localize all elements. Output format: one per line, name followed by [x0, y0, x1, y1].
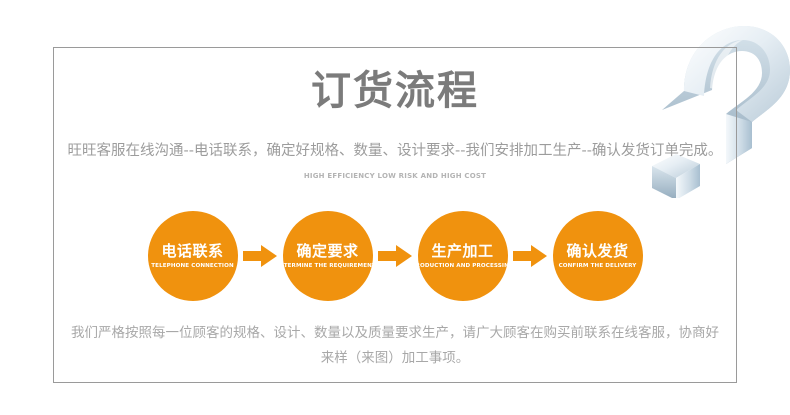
footnote-line-1: 我们严格按照每一位顾客的规格、设计、数量以及质量要求生产，请广大顾客在购买前联系…: [71, 325, 719, 366]
step-label-cn: 电话联系: [161, 242, 223, 260]
step-label-en: CONFIRM THE DELIVERY: [559, 263, 637, 269]
step-label-en: DETERMINE THE REQUIREMENTS: [275, 263, 380, 269]
step-label-cn: 生产加工: [431, 242, 493, 260]
footnote-paragraph: 我们严格按照每一位顾客的规格、设计、数量以及质量要求生产，请广大顾客在购买前联系…: [70, 321, 720, 371]
step-label-en: TELEPHONE CONNECTION: [151, 263, 234, 269]
process-step-2: 确定要求 DETERMINE THE REQUIREMENTS: [283, 211, 373, 301]
process-step-4: 确认发货 CONFIRM THE DELIVERY: [553, 211, 643, 301]
step-label-en: PRODUCTION AND PROCESSING: [411, 263, 513, 269]
step-label-cn: 确定要求: [296, 242, 358, 260]
subtitle-chinese: 旺旺客服在线沟通--电话联系，确定好规格、数量、设计要求--我们安排加工生产--…: [53, 141, 737, 163]
arrow-right-icon: [508, 243, 553, 269]
order-process-banner: 订货流程 旺旺客服在线沟通--电话联系，确定好规格、数量、设计要求--我们安排加…: [0, 0, 790, 415]
footnote-line-2: 加工事项。: [402, 350, 470, 366]
subtitle-english: HIGH EFFICIENCY LOW RISK AND HIGH COST: [53, 172, 737, 180]
process-step-3: 生产加工 PRODUCTION AND PROCESSING: [418, 211, 508, 301]
page-title: 订货流程: [0, 68, 790, 114]
step-label-cn: 确认发货: [566, 242, 628, 260]
process-step-1: 电话联系 TELEPHONE CONNECTION: [148, 211, 238, 301]
process-flow: 电话联系 TELEPHONE CONNECTION 确定要求 DETERMINE…: [53, 208, 737, 304]
